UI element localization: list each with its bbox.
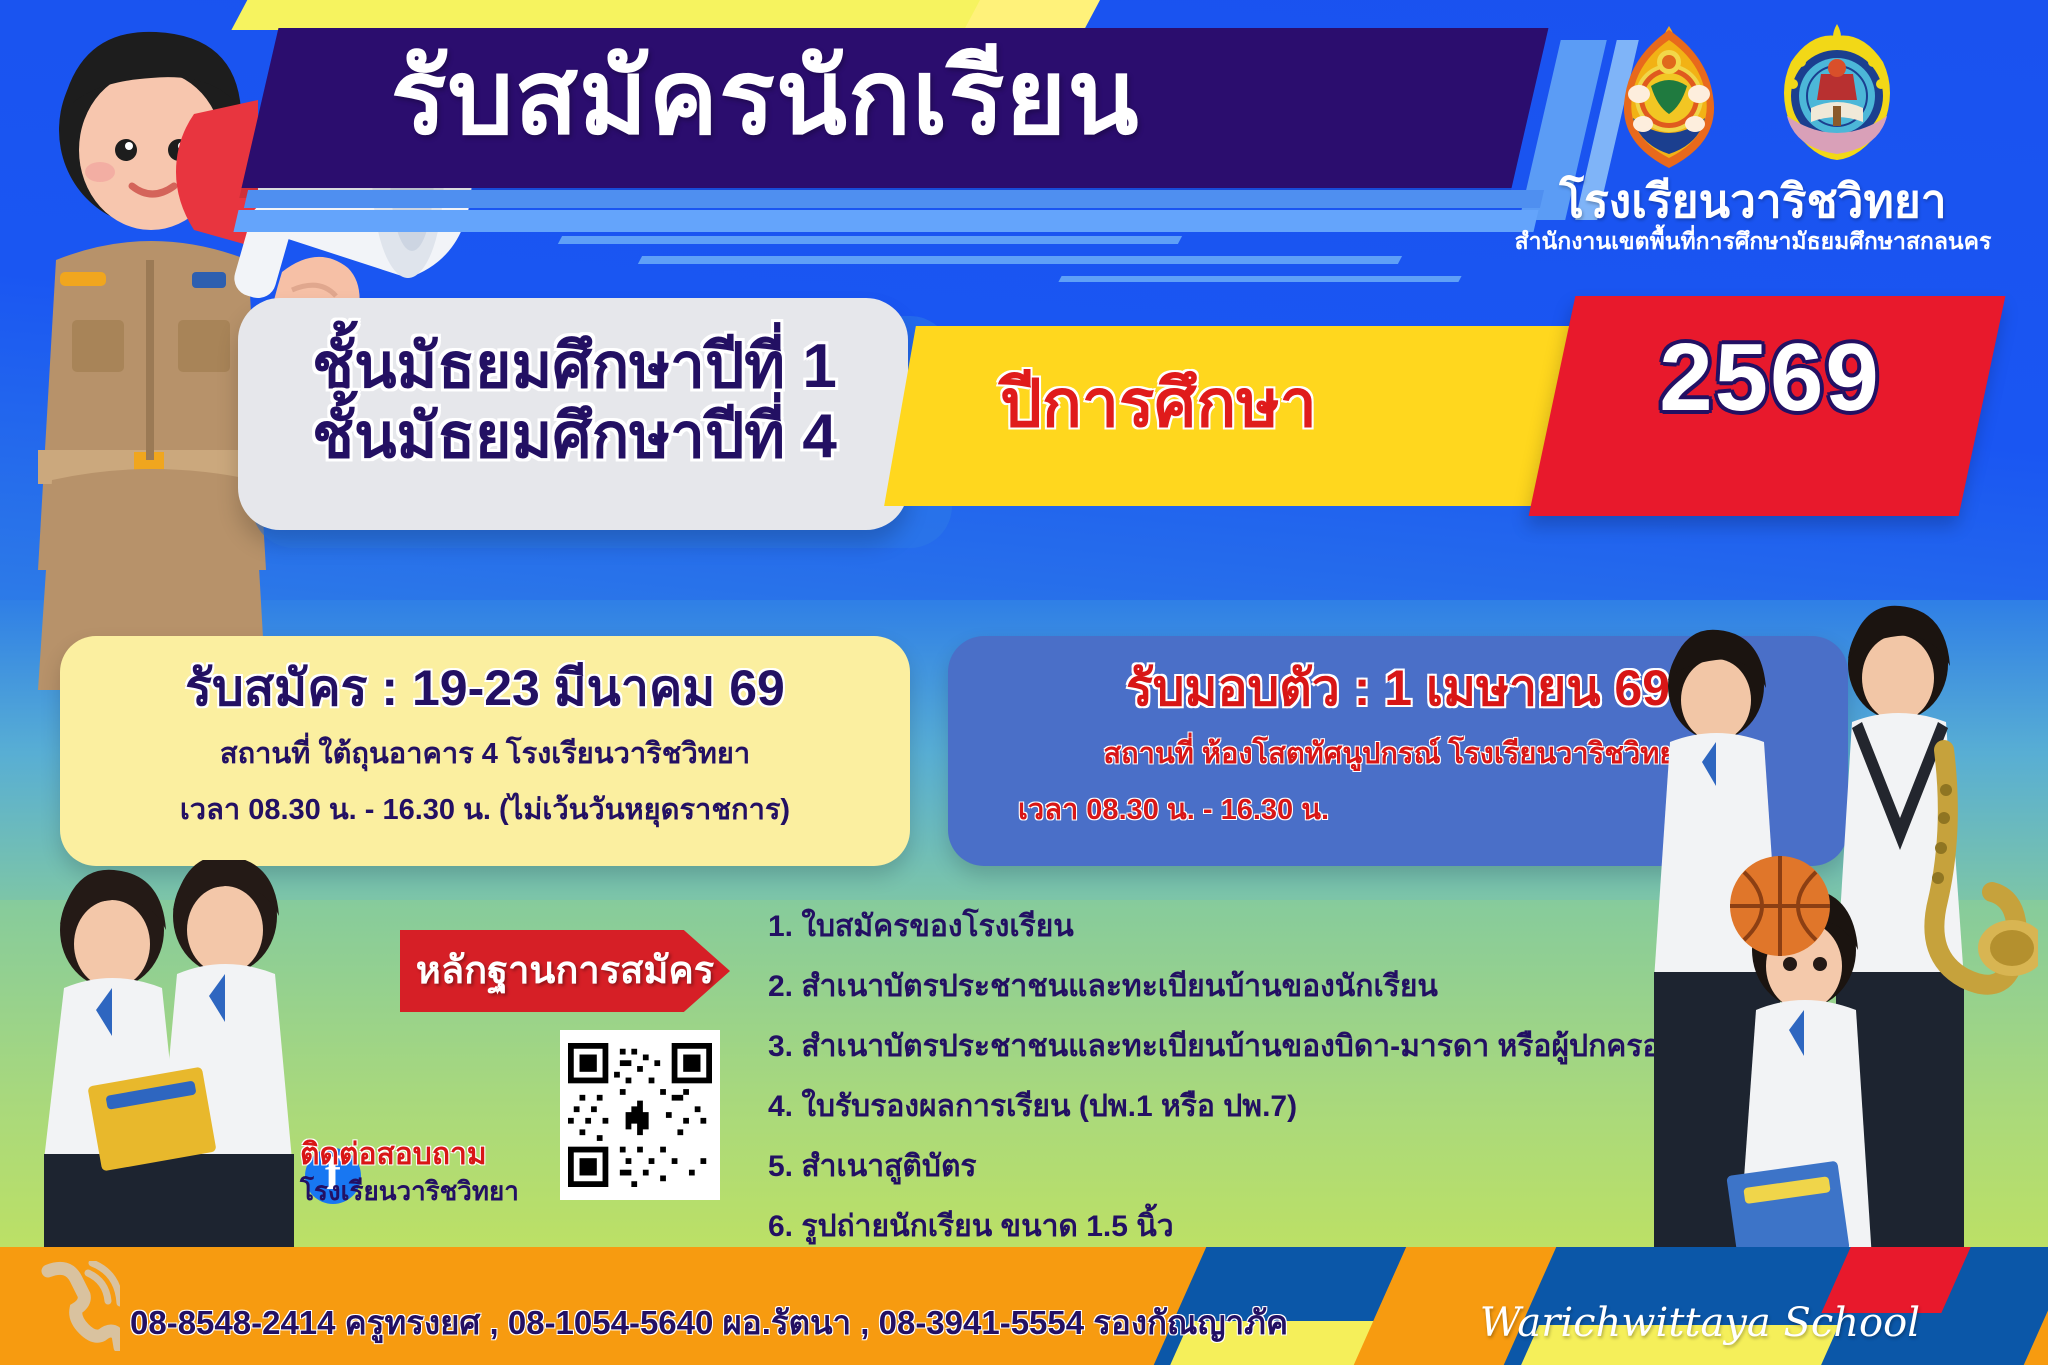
school-script-name: Warichwittaya School bbox=[1480, 1303, 1920, 1343]
academic-year-number: 2569 bbox=[1560, 330, 1980, 426]
decor-stripe-2 bbox=[638, 256, 1402, 264]
application-time: เวลา 08.30 น. - 16.30 น. (ไม่เว้นวันหยุด… bbox=[90, 793, 880, 828]
logo-row bbox=[1488, 22, 2018, 174]
school-name: โรงเรียนวาริชวิทยา bbox=[1488, 178, 2018, 224]
school-identity: โรงเรียนวาริชวิทยา สำนักงานเขตพื้นที่การ… bbox=[1488, 22, 2018, 253]
grade-line-2: ชั้นมัธยมศึกษาปีที่ 4 bbox=[312, 402, 908, 472]
qr-code-pattern bbox=[568, 1038, 712, 1192]
students-left-illustration bbox=[20, 860, 350, 1300]
page-title: รับสมัครนักเรียน bbox=[0, 40, 1530, 156]
phone-icon bbox=[34, 1261, 120, 1351]
application-info-box: รับสมัคร : 19-23 มีนาคม 69 สถานที่ ใต้ถุ… bbox=[60, 636, 910, 866]
application-place: สถานที่ ใต้ถุนอาคาร 4 โรงเรียนวาริชวิทยา bbox=[90, 737, 880, 772]
decor-stripe-1 bbox=[558, 236, 1182, 244]
grade-card: ชั้นมัธยมศึกษาปีที่ 1 ชั้นมัธยมศึกษาปีที… bbox=[238, 298, 908, 530]
admission-poster: รับสมัครนักเรียน bbox=[0, 0, 2048, 1365]
obec-ministry-logo bbox=[1603, 22, 1735, 174]
academic-year-label: ปีการศึกษา bbox=[1000, 370, 1420, 436]
evidence-banner: หลักฐานการสมัคร bbox=[400, 930, 730, 1012]
grade-line-1: ชั้นมัธยมศึกษาปีที่ 1 bbox=[312, 332, 908, 402]
title-banner-underline-1 bbox=[244, 190, 1544, 208]
school-subtitle: สำนักงานเขตพื้นที่การศึกษามัธยมศึกษาสกลน… bbox=[1488, 230, 2018, 253]
application-heading: รับสมัคร : 19-23 มีนาคม 69 bbox=[90, 662, 880, 715]
evidence-banner-label: หลักฐานการสมัคร bbox=[416, 952, 714, 990]
title-banner-underline-2 bbox=[233, 210, 1538, 232]
warichwittaya-school-logo bbox=[1771, 22, 1903, 174]
students-right-illustration bbox=[1608, 600, 2038, 1290]
qr-code-icon[interactable] bbox=[560, 1030, 720, 1200]
decor-stripe-3 bbox=[1058, 276, 1461, 282]
contact-phone-numbers: 08-8548-2414 ครูทรงยศ , 08-1054-5640 ผอ.… bbox=[130, 1306, 1330, 1339]
